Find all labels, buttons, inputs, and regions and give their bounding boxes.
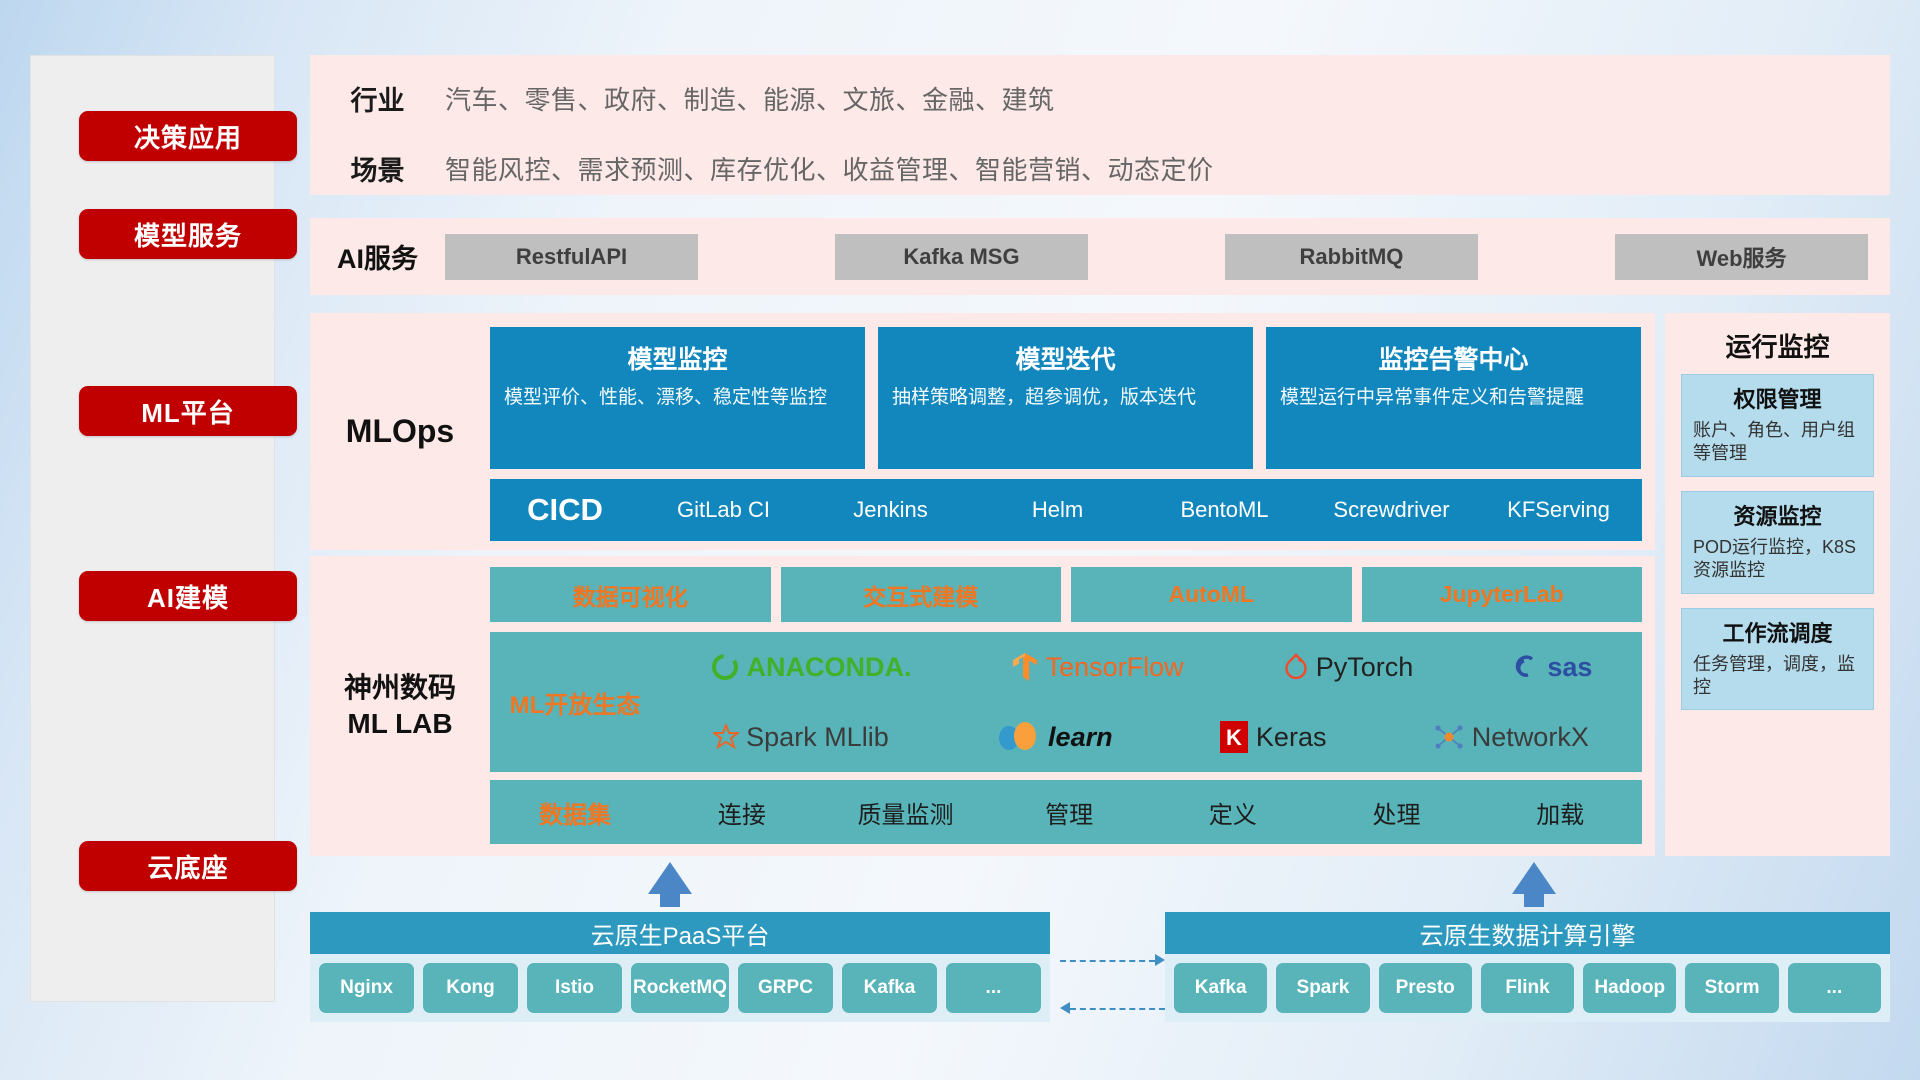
ecosystem-label: ML开放生态	[490, 685, 660, 720]
industry-text: 汽车、零售、政府、制造、能源、文旅、金融、建筑	[445, 80, 1055, 117]
engine-chip-spark[interactable]: Spark	[1276, 963, 1369, 1013]
engine-title: 云原生数据计算引擎	[1165, 912, 1890, 954]
mon-card-title: 工作流调度	[1693, 616, 1862, 648]
paas-chip-kafka[interactable]: Kafka	[842, 963, 937, 1013]
paas-chip-nginx[interactable]: Nginx	[319, 963, 414, 1013]
svg-text:K: K	[1226, 725, 1242, 750]
engine-chip-storm[interactable]: Storm	[1685, 963, 1778, 1013]
ml-lab-label: 神州数码 ML LAB	[310, 556, 490, 856]
dash-right	[1060, 960, 1155, 962]
scikit-learn-logo: learn	[995, 721, 1113, 753]
ai-modeling-panel: 神州数码 ML LAB 数据可视化 交互式建模 AutoML JupyterLa…	[310, 556, 1655, 856]
anaconda-icon	[710, 652, 740, 682]
spark-icon	[713, 724, 739, 750]
mlops-panel: MLOps 模型监控 模型评价、性能、漂移、稳定性等监控 模型迭代 抽样策略调整…	[310, 313, 1655, 550]
spark-label: Spark MLlib	[746, 722, 889, 753]
service-chip-web[interactable]: Web服务	[1615, 234, 1868, 280]
dash-left-head-icon	[1060, 1002, 1070, 1014]
engine-arrow-head	[1512, 862, 1556, 894]
diagram-canvas: 决策应用 模型服务 ML平台 AI建模 云底座 行业 汽车、零售、政府、制造、能…	[0, 0, 1920, 1080]
cicd-item-screwdriver[interactable]: Screwdriver	[1308, 498, 1475, 521]
tensorflow-logo: TensorFlow	[1011, 651, 1184, 683]
dataset-item-manage[interactable]: 管理	[987, 795, 1151, 830]
scene-label: 场景	[310, 149, 445, 188]
monitoring-card-permission[interactable]: 权限管理 账户、角色、用户组等管理	[1681, 374, 1874, 477]
cicd-item-kfserving[interactable]: KFServing	[1475, 498, 1642, 521]
engine-chip-presto[interactable]: Presto	[1379, 963, 1472, 1013]
ai-service-label: AI服务	[310, 237, 445, 276]
mon-card-desc: POD运行监控，K8S资源监控	[1693, 536, 1862, 583]
industry-scene-panel: 行业 汽车、零售、政府、制造、能源、文旅、金融、建筑 场景 智能风控、需求预测、…	[310, 55, 1890, 195]
mon-card-desc: 任务管理，调度，监控	[1693, 653, 1862, 700]
dataset-item-load[interactable]: 加载	[1478, 795, 1642, 830]
engine-chip-more[interactable]: ...	[1788, 963, 1881, 1013]
card-desc: 模型评价、性能、漂移、稳定性等监控	[504, 385, 851, 410]
monitoring-title: 运行监控	[1665, 313, 1890, 374]
rail-label: ML平台	[141, 393, 235, 430]
rail-item-model-service[interactable]: 模型服务	[79, 209, 297, 259]
cicd-item-bentoml[interactable]: BentoML	[1141, 498, 1308, 521]
rail-item-cloud-base[interactable]: 云底座	[79, 841, 297, 891]
paas-title: 云原生PaaS平台	[310, 912, 1050, 954]
chip-label: Web服务	[1696, 241, 1786, 273]
logo-row-2: Spark MLlib learn K K	[660, 702, 1642, 772]
dataset-item-connect[interactable]: 连接	[660, 795, 824, 830]
engine-chip-kafka[interactable]: Kafka	[1174, 963, 1267, 1013]
industry-label: 行业	[310, 79, 445, 118]
paas-chips: Nginx Kong Istio RocketMQ GRPC Kafka ...	[310, 954, 1050, 1022]
service-chip-rabbitmq[interactable]: RabbitMQ	[1225, 234, 1478, 280]
cicd-item-gitlab-ci[interactable]: GitLab CI	[640, 498, 807, 521]
logo-grid: ANACONDA. TensorFlow	[660, 632, 1642, 772]
engine-chip-flink[interactable]: Flink	[1481, 963, 1574, 1013]
monitoring-card-workflow[interactable]: 工作流调度 任务管理，调度，监控	[1681, 608, 1874, 711]
ai-service-panel: AI服务 RestfulAPI Kafka MSG RabbitMQ Web服务	[310, 218, 1890, 295]
mlops-card-alert-center[interactable]: 监控告警中心 模型运行中异常事件定义和告警提醒	[1266, 327, 1641, 469]
rail-label: 决策应用	[134, 118, 242, 155]
rail-item-decision-app[interactable]: 决策应用	[79, 111, 297, 161]
networkx-icon	[1433, 722, 1465, 752]
logo-row-1: ANACONDA. TensorFlow	[660, 632, 1642, 702]
paas-chip-more[interactable]: ...	[946, 963, 1041, 1013]
rail-item-ml-platform[interactable]: ML平台	[79, 386, 297, 436]
ml-lab-line2: ML LAB	[347, 706, 452, 742]
networkx-label: NetworkX	[1472, 722, 1589, 753]
ml-ecosystem-row: ML开放生态 ANACONDA. TensorFlow	[490, 632, 1642, 772]
cicd-item-jenkins[interactable]: Jenkins	[807, 498, 974, 521]
tab-automl[interactable]: AutoML	[1071, 567, 1352, 622]
card-desc: 抽样策略调整，超参调优，版本迭代	[892, 385, 1239, 410]
engine-group: 云原生数据计算引擎 Kafka Spark Presto Flink Hadoo…	[1165, 912, 1890, 1022]
rail-label: 模型服务	[134, 216, 242, 253]
mon-card-title: 权限管理	[1693, 382, 1862, 414]
mlops-card-model-iteration[interactable]: 模型迭代 抽样策略调整，超参调优，版本迭代	[878, 327, 1253, 469]
anaconda-label: ANACONDA.	[747, 652, 912, 683]
scikit-learn-label: learn	[1048, 722, 1113, 753]
pytorch-icon	[1283, 652, 1309, 682]
spark-mllib-logo: Spark MLlib	[713, 722, 889, 753]
tab-interactive-modeling[interactable]: 交互式建模	[781, 567, 1062, 622]
service-chip-kafka-msg[interactable]: Kafka MSG	[835, 234, 1088, 280]
dataset-label: 数据集	[490, 795, 660, 830]
scene-row: 场景 智能风控、需求预测、库存优化、收益管理、智能营销、动态定价	[310, 133, 1890, 203]
scikit-learn-icon	[995, 721, 1041, 753]
dataset-item-quality[interactable]: 质量监测	[824, 795, 988, 830]
mlops-cards: 模型监控 模型评价、性能、漂移、稳定性等监控 模型迭代 抽样策略调整，超参调优，…	[490, 327, 1642, 469]
scene-text: 智能风控、需求预测、库存优化、收益管理、智能营销、动态定价	[445, 150, 1214, 187]
dash-right-head-icon	[1155, 954, 1165, 966]
keras-logo: K Keras	[1219, 720, 1327, 754]
paas-arrow-head	[648, 862, 692, 894]
paas-chip-istio[interactable]: Istio	[527, 963, 622, 1013]
rail-label: 云底座	[147, 848, 228, 885]
card-desc: 模型运行中异常事件定义和告警提醒	[1280, 385, 1627, 410]
paas-chip-grpc[interactable]: GRPC	[738, 963, 833, 1013]
tensorflow-icon	[1011, 651, 1039, 683]
chip-label: Kafka MSG	[903, 244, 1019, 270]
monitoring-panel: 运行监控 权限管理 账户、角色、用户组等管理 资源监控 POD运行监控，K8S资…	[1665, 313, 1890, 856]
card-title: 监控告警中心	[1280, 340, 1627, 376]
dataset-row: 数据集 连接 质量监测 管理 定义 处理 加载	[490, 780, 1642, 844]
chip-label: RabbitMQ	[1300, 244, 1404, 270]
chip-label: RestfulAPI	[516, 244, 627, 270]
sas-label: sas	[1547, 652, 1592, 683]
industry-row: 行业 汽车、零售、政府、制造、能源、文旅、金融、建筑	[310, 63, 1890, 133]
mon-card-desc: 账户、角色、用户组等管理	[1693, 419, 1862, 466]
mon-card-title: 资源监控	[1693, 499, 1862, 531]
cicd-row: CICD GitLab CI Jenkins Helm BentoML Scre…	[490, 479, 1642, 541]
cicd-item-helm[interactable]: Helm	[974, 498, 1141, 521]
cicd-title: CICD	[490, 492, 640, 528]
layer-rail: 决策应用 模型服务 ML平台 AI建模 云底座	[30, 55, 275, 1002]
rail-label: AI建模	[147, 578, 229, 615]
paas-chip-rocketmq[interactable]: RocketMQ	[631, 963, 729, 1013]
dataset-item-process[interactable]: 处理	[1315, 795, 1479, 830]
dash-left	[1070, 1008, 1165, 1010]
pytorch-logo: PyTorch	[1283, 652, 1414, 683]
card-title: 模型迭代	[892, 340, 1239, 376]
monitoring-card-resource[interactable]: 资源监控 POD运行监控，K8S资源监控	[1681, 491, 1874, 594]
keras-icon: K	[1219, 720, 1249, 754]
sas-icon	[1512, 653, 1540, 681]
modeling-tabs: 数据可视化 交互式建模 AutoML JupyterLab	[490, 567, 1642, 622]
dataset-item-define[interactable]: 定义	[1151, 795, 1315, 830]
keras-label: Keras	[1256, 722, 1327, 753]
mlops-card-model-monitor[interactable]: 模型监控 模型评价、性能、漂移、稳定性等监控	[490, 327, 865, 469]
mlops-label: MLOps	[310, 313, 490, 550]
paas-group: 云原生PaaS平台 Nginx Kong Istio RocketMQ GRPC…	[310, 912, 1050, 1022]
rail-item-ai-modeling[interactable]: AI建模	[79, 571, 297, 621]
tab-data-visualization[interactable]: 数据可视化	[490, 567, 771, 622]
tab-jupyterlab[interactable]: JupyterLab	[1362, 567, 1643, 622]
engine-chip-hadoop[interactable]: Hadoop	[1583, 963, 1676, 1013]
sas-logo: sas	[1512, 652, 1592, 683]
networkx-logo: NetworkX	[1433, 722, 1589, 753]
service-chip-restfulapi[interactable]: RestfulAPI	[445, 234, 698, 280]
engine-chips: Kafka Spark Presto Flink Hadoop Storm ..…	[1165, 954, 1890, 1022]
pytorch-label: PyTorch	[1316, 652, 1414, 683]
card-title: 模型监控	[504, 340, 851, 376]
ml-lab-line1: 神州数码	[344, 670, 456, 706]
tensorflow-label: TensorFlow	[1046, 652, 1184, 683]
paas-chip-kong[interactable]: Kong	[423, 963, 518, 1013]
anaconda-logo: ANACONDA.	[710, 652, 912, 683]
ai-service-items: RestfulAPI Kafka MSG RabbitMQ Web服务	[445, 234, 1890, 280]
